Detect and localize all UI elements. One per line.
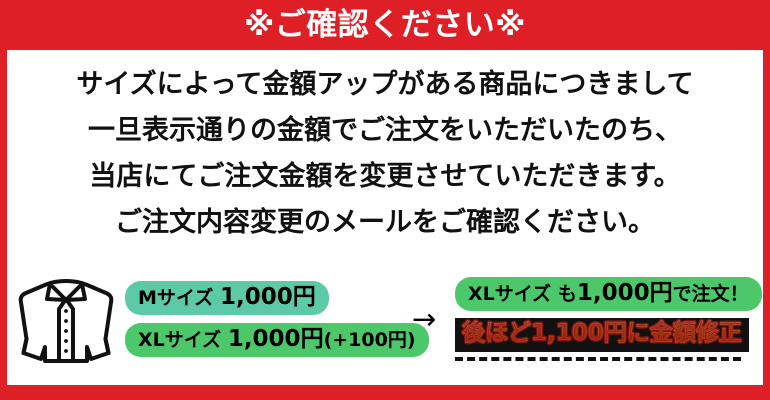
notice-message: サイズによって金額アップがある商品につきまして 一旦表示通りの金額でご注文をいた… <box>7 62 763 246</box>
shirt-icon-container <box>7 269 125 369</box>
xl-order-particle: も <box>558 283 577 305</box>
m-size-label: Mサイズ <box>138 287 213 309</box>
xl-order-tail: で注文！ <box>673 283 749 305</box>
price-revision-text: 後ほど1,100円に金額修正 <box>462 320 742 346</box>
dashed-underline <box>455 357 741 361</box>
price-revision-banner: 後ほど1,100円に金額修正 <box>455 318 749 352</box>
header-banner: ※ご確認ください※ <box>0 0 770 50</box>
price-comparison-row: Mサイズ 1,000円 XLサイズ 1,000円(+100円) → XLサイズ … <box>7 258 763 380</box>
m-size-price-badge: Mサイズ 1,000円 <box>125 281 329 315</box>
arrow-container: → <box>393 305 455 334</box>
xl-size-amount: 1,000円 <box>228 326 324 352</box>
dress-shirt-icon <box>14 269 118 369</box>
message-line-2: 一旦表示通りの金額でご注文をいただいたのち、 <box>7 108 763 154</box>
xl-order-price-badge: XLサイズ も1,000円で注文！ <box>455 277 762 311</box>
xl-size-label: XLサイズ <box>138 329 221 351</box>
border-right <box>763 50 770 385</box>
message-line-1: サイズによって金額アップがある商品につきまして <box>7 62 763 108</box>
xl-order-amount: 1,000円 <box>577 280 673 306</box>
xl-order-label: XLサイズ <box>468 283 551 305</box>
message-line-4: ご注文内容変更のメールをご確認ください。 <box>7 200 763 246</box>
xl-size-price-badge: XLサイズ 1,000円(+100円) <box>125 323 429 357</box>
price-revision-block: 後ほど1,100円に金額修正 <box>455 318 745 361</box>
notice-card: ※ご確認ください※ サイズによって金額アップがある商品につきまして 一旦表示通り… <box>0 0 770 400</box>
border-left <box>0 50 7 385</box>
arrow-right-icon: → <box>412 302 436 336</box>
before-price-column: Mサイズ 1,000円 XLサイズ 1,000円(+100円) <box>125 281 393 358</box>
m-size-amount: 1,000円 <box>220 284 316 310</box>
page-title: ※ご確認ください※ <box>244 10 526 41</box>
message-line-3: 当店にてご注文金額を変更させていただきます。 <box>7 154 763 200</box>
border-bottom <box>0 385 770 400</box>
after-price-column: XLサイズ も1,000円で注文！ 後ほど1,100円に金額修正 <box>455 277 763 361</box>
